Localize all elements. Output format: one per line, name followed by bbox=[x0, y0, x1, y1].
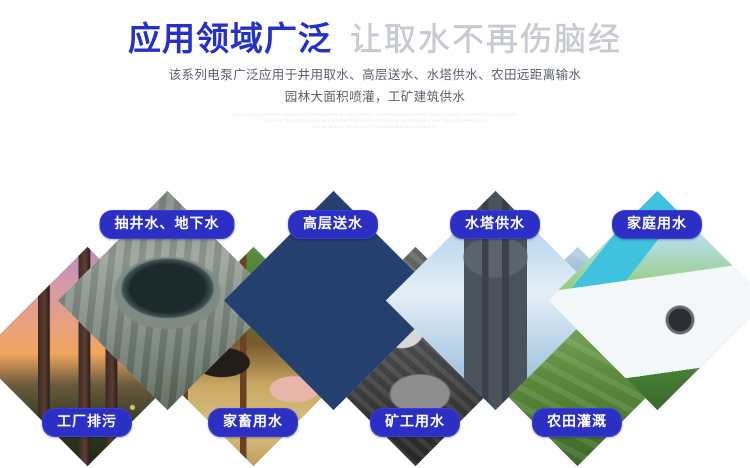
microtext-block: DELTI WAS A PERFECT MODELLING INTEGRATIO… bbox=[0, 112, 750, 130]
subtitle-line-2: 园林大面积喷灌，工矿建筑供水 bbox=[0, 86, 750, 105]
promo-banner: 应用领域广泛 让取水不再伤脑经 该系列电泵广泛应用于井用取水、高层送水、水塔供水… bbox=[0, 0, 750, 468]
title-main: 应用领域广泛 bbox=[128, 22, 332, 55]
label-factory[interactable]: 工厂排污 bbox=[42, 408, 132, 437]
label-miner[interactable]: 矿工用水 bbox=[370, 408, 460, 437]
subtitle-line-1: 该系列电泵广泛应用于井用取水、高层送水、水塔供水、农田远距离输水 bbox=[0, 64, 750, 83]
microtext-line-3: VISION BEAUTY REVIRLICITY UNKNOWNLEDGE A… bbox=[0, 124, 750, 130]
label-home[interactable]: 家庭用水 bbox=[612, 210, 702, 239]
title-sub: 让取水不再伤脑经 bbox=[350, 23, 622, 55]
diamond-collage: 抽井水、地下水 高层送水 水塔供水 家庭用水 工厂排污 家畜用水 矿工用水 农田… bbox=[0, 170, 750, 468]
label-well[interactable]: 抽井水、地下水 bbox=[100, 210, 235, 239]
label-city[interactable]: 高层送水 bbox=[288, 210, 378, 239]
label-tower[interactable]: 水塔供水 bbox=[450, 210, 540, 239]
header: 应用领域广泛 让取水不再伤脑经 该系列电泵广泛应用于井用取水、高层送水、水塔供水… bbox=[0, 0, 750, 130]
page-title: 应用领域广泛 让取水不再伤脑经 bbox=[0, 22, 750, 55]
label-field[interactable]: 农田灌溉 bbox=[532, 408, 622, 437]
label-pig[interactable]: 家畜用水 bbox=[208, 408, 298, 437]
